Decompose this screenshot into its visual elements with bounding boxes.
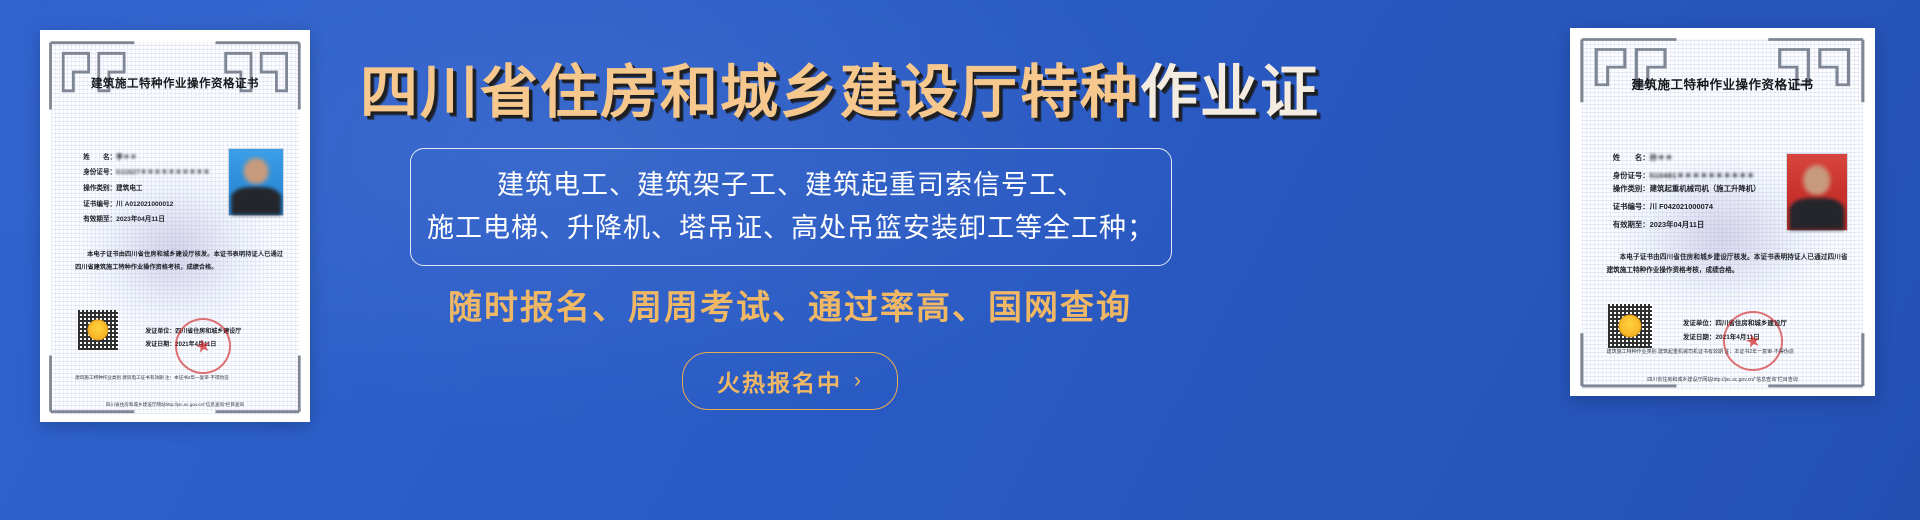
field-name: 姓 名：李＊＊ bbox=[83, 150, 210, 166]
certificate-fields-right: 姓 名：孙＊＊ 身份证号：510481＊＊＊＊＊＊＊＊＊＊ 操作类别：建筑起重机… bbox=[1613, 149, 1761, 233]
scope-line-1: 建筑电工、建筑架子工、建筑起重司索信号工、 bbox=[497, 164, 1085, 207]
enroll-now-label: 火热报名中 bbox=[717, 364, 842, 398]
photo-head bbox=[1803, 165, 1831, 195]
certificate-notes-left: 建筑施工特种作业类别 建筑电工证书有效期 注：本证书2年一复审·不得伪造 bbox=[75, 374, 229, 382]
certificate-card-left: 建筑施工特种作业操作资格证书 姓 名：李＊＊ 身份证号：511627＊＊＊＊＊＊… bbox=[40, 30, 310, 422]
field-name: 姓 名：孙＊＊ bbox=[1613, 149, 1761, 166]
field-valid-until: 有效期至：2023年04月11日 bbox=[1613, 216, 1761, 233]
certificate-title-left: 建筑施工特种作业操作资格证书 bbox=[40, 75, 310, 91]
certificate-card-right: 建筑施工特种作业操作资格证书 姓 名：孙＊＊ 身份证号：510481＊＊＊＊＊＊… bbox=[1570, 28, 1875, 396]
page-title-part-b: 作业证 bbox=[1140, 60, 1320, 125]
photo-body bbox=[232, 187, 282, 215]
field-valid-until: 有效期至：2023年04月11日 bbox=[83, 212, 210, 228]
photo-head bbox=[244, 158, 269, 184]
qr-center-emoji-icon bbox=[1619, 314, 1642, 337]
certificate-statement-right: 本电子证书由四川省住房和城乡建设厅核发。本证书表明持证人已通过四川省建筑施工特种… bbox=[1607, 251, 1848, 278]
promo-tagline: 随时报名、周周考试、通过率高、国网查询 bbox=[360, 280, 1220, 329]
field-operation-type: 操作类别：建筑电工 bbox=[83, 181, 210, 197]
scope-line-2: 施工电梯、升降机、塔吊证、高处吊篮安装卸工等全工种； bbox=[427, 207, 1155, 250]
certificate-fields-left: 姓 名：李＊＊ 身份证号：511627＊＊＊＊＊＊＊＊＊＊ 操作类别：建筑电工 … bbox=[83, 150, 210, 228]
certificate-footer-right: 四川省住房和城乡建设厅网站http://jsc.sc.gov.cn/“信息查询”… bbox=[1570, 376, 1875, 383]
certificate-title-right: 建筑施工特种作业操作资格证书 bbox=[1570, 74, 1875, 93]
field-certificate-number: 证书编号：川 F042021000074 bbox=[1613, 198, 1761, 215]
photo-body bbox=[1789, 198, 1844, 230]
field-operation-type: 操作类别：建筑起重机械司机（施工升降机） bbox=[1613, 184, 1761, 194]
certificate-statement-left: 本电子证书由四川省住房和城乡建设厅核发。本证书表明持证人已通过四川省建筑施工特种… bbox=[75, 248, 283, 274]
field-certificate-number: 证书编号：川 A012021000012 bbox=[83, 197, 210, 213]
promo-banner: 建筑施工特种作业操作资格证书 姓 名：李＊＊ 身份证号：511627＊＊＊＊＊＊… bbox=[0, 0, 1920, 520]
page-title: 四川省住房和城乡建设厅特种作业证 bbox=[360, 64, 1220, 122]
field-id-number: 身份证号：510481＊＊＊＊＊＊＊＊＊＊ bbox=[1613, 167, 1761, 184]
certificate-notes-right: 建筑施工特种作业类别 建筑起重机械司机证书有效期 注：本证书2年一复审·不得伪造 bbox=[1607, 348, 1794, 357]
seal-star-icon: ★ bbox=[193, 336, 213, 357]
center-content: 四川省住房和城乡建设厅特种作业证 建筑电工、建筑架子工、建筑起重司索信号工、 施… bbox=[360, 0, 1220, 520]
page-title-part-a: 四川省住房和城乡建设厅特种 bbox=[360, 60, 1140, 125]
certificate-photo-right bbox=[1786, 153, 1848, 231]
enroll-now-button[interactable]: 火热报名中 › bbox=[682, 352, 898, 410]
qr-code-left[interactable] bbox=[78, 310, 118, 350]
certificate-photo-left bbox=[228, 148, 284, 216]
field-id-number: 身份证号：511627＊＊＊＊＊＊＊＊＊＊ bbox=[83, 165, 210, 181]
chevron-right-icon: › bbox=[854, 369, 863, 393]
certificate-footer-left: 四川省住房和城乡建设厅网站http://jsc.sc.gov.cn/“信息查询”… bbox=[40, 402, 310, 408]
scope-info-box: 建筑电工、建筑架子工、建筑起重司索信号工、 施工电梯、升降机、塔吊证、高处吊篮安… bbox=[410, 148, 1172, 266]
qr-code-right[interactable] bbox=[1608, 304, 1652, 348]
